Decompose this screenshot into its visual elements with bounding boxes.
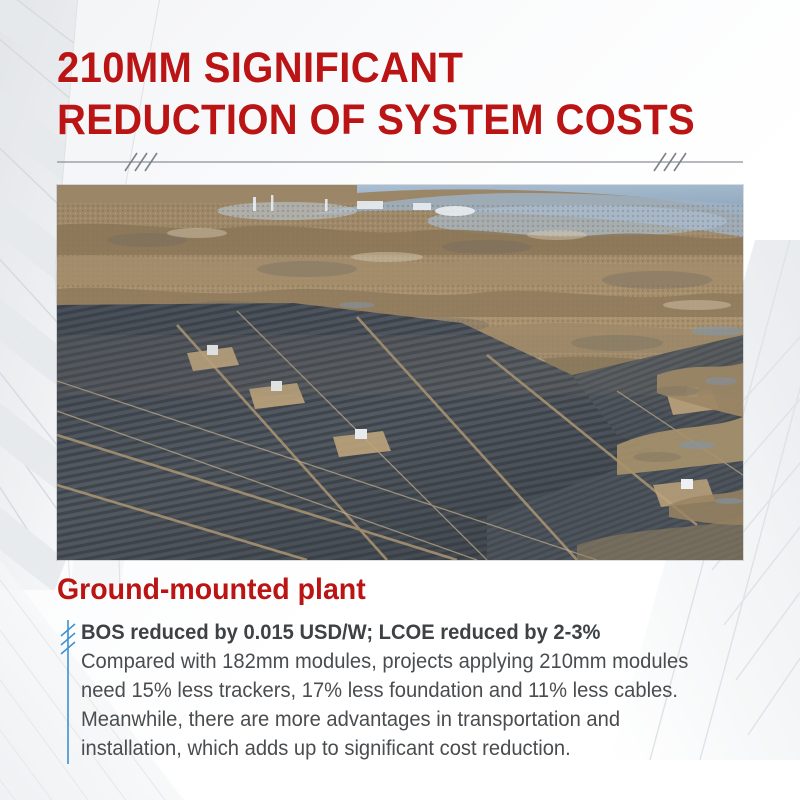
body-text: BOS reduced by 0.015 USD/W; LCOE reduced…: [81, 618, 757, 763]
blue-accent-rule: [57, 618, 79, 764]
solar-farm-aerial-photo: [57, 185, 743, 560]
body-line-2: need 15% less trackers, 17% less foundat…: [81, 676, 730, 705]
hero-photo: [57, 185, 743, 560]
page-title: 210MM SIGNIFICANT REDUCTION OF SYSTEM CO…: [57, 42, 757, 146]
body-line-1: Compared with 182mm modules, projects ap…: [81, 647, 730, 676]
body-lead-line: BOS reduced by 0.015 USD/W; LCOE reduced…: [81, 618, 730, 647]
section-heading: Ground-mounted plant: [57, 572, 366, 608]
page-title-line-2: REDUCTION OF SYSTEM COSTS: [57, 94, 708, 146]
body-block: BOS reduced by 0.015 USD/W; LCOE reduced…: [57, 618, 757, 764]
page-title-line-1: 210MM SIGNIFICANT: [57, 42, 708, 94]
body-line-4: installation, which adds up to significa…: [81, 734, 730, 763]
body-line-3: Meanwhile, there are more advantages in …: [81, 705, 730, 734]
slide-canvas: 210MM SIGNIFICANT REDUCTION OF SYSTEM CO…: [0, 0, 800, 800]
divider: [57, 150, 743, 174]
